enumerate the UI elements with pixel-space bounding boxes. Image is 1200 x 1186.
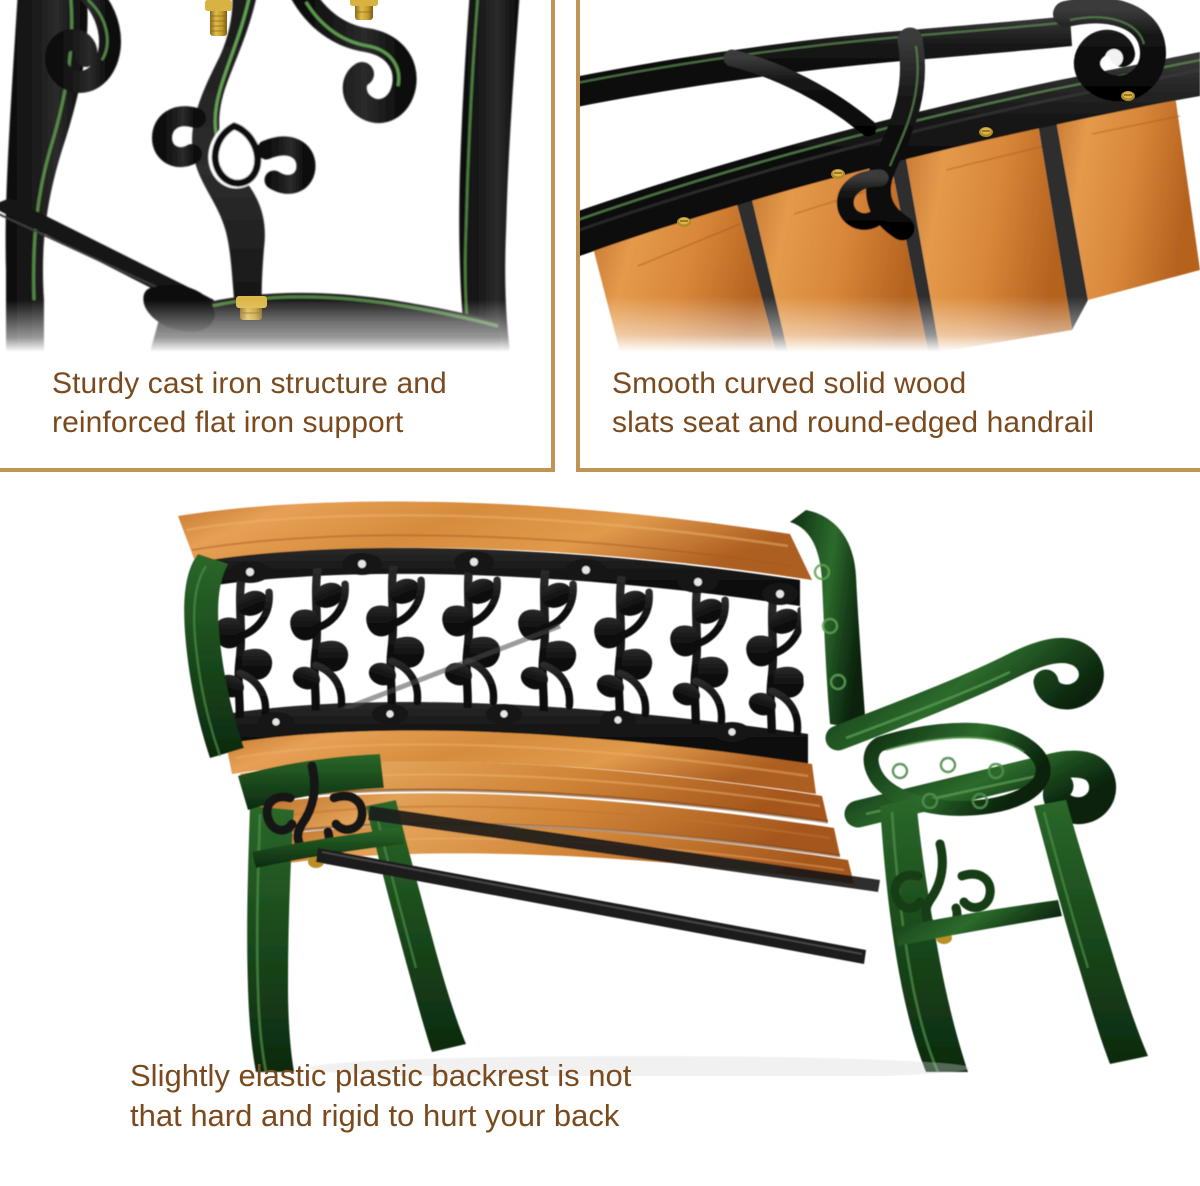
photo-cast-iron-leg-detail [0, 0, 551, 352]
feature-panel-wood-slats: Smooth curved solid wood slats seat and … [576, 0, 1200, 472]
photo-armrest-and-slats-detail [580, 0, 1200, 352]
photo-full-bench [0, 476, 1200, 1076]
feature-caption-wood-slats: Smooth curved solid wood slats seat and … [612, 364, 1094, 442]
feature-panel-cast-iron: Sturdy cast iron structure and reinforce… [0, 0, 555, 472]
product-feature-collage: Sturdy cast iron structure and reinforce… [0, 0, 1200, 1186]
feature-caption-backrest: Slightly elastic plastic backrest is not… [130, 1056, 631, 1137]
feature-caption-cast-iron: Sturdy cast iron structure and reinforce… [52, 364, 447, 442]
